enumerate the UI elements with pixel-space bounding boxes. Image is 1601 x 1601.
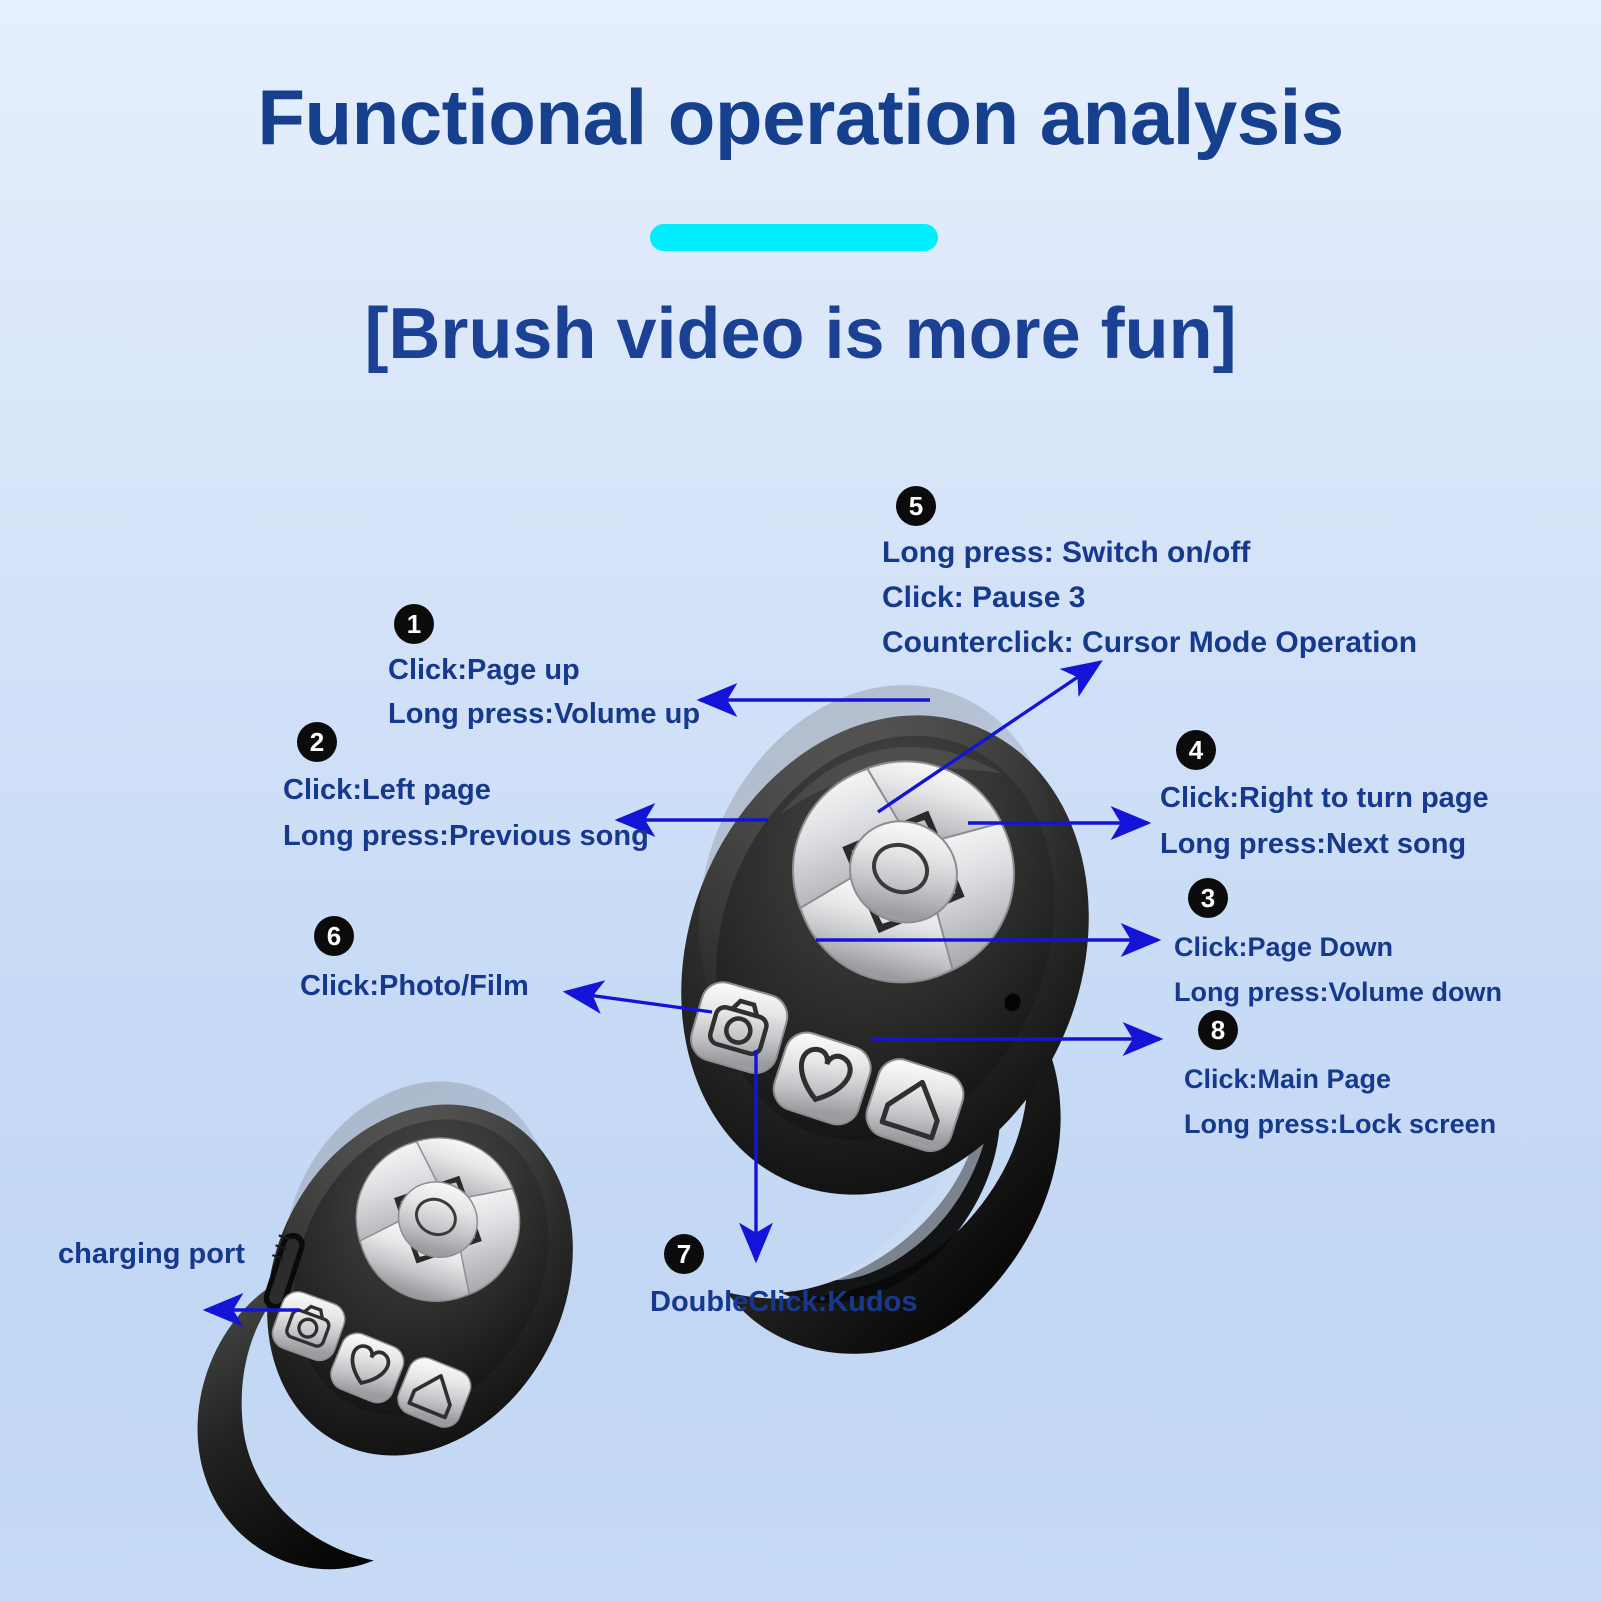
- callout-badge-3: 3: [1188, 878, 1228, 918]
- callout-2-line-2: Long press:Previous song: [283, 820, 649, 854]
- callout-2-line-1: Click:Left page: [283, 774, 649, 808]
- callout-5-line-2: Click: Pause 3: [882, 581, 1417, 616]
- callout-5-line-1: Long press: Switch on/off: [882, 536, 1417, 571]
- infographic-canvas: Functional operation analysis [Brush vid…: [0, 0, 1601, 1601]
- callout-badge-7: 7: [664, 1234, 704, 1274]
- callout-badge-4: 4: [1176, 730, 1216, 770]
- callout-badge-8: 8: [1198, 1010, 1238, 1050]
- callout-4: 4 Click:Right to turn page Long press:Ne…: [1160, 730, 1489, 861]
- arrow-callout-6: [566, 992, 712, 1012]
- callout-1: 1 Click:Page up Long press:Volume up: [388, 604, 700, 731]
- callout-7: 7 DoubleClick:Kudos: [650, 1234, 917, 1320]
- callout-4-line-1: Click:Right to turn page: [1160, 782, 1489, 816]
- callout-2: 2 Click:Left page Long press:Previous so…: [283, 722, 649, 853]
- callout-5-line-3: Counterclick: Cursor Mode Operation: [882, 626, 1417, 661]
- callout-8-line-2: Long press:Lock screen: [1184, 1109, 1496, 1140]
- callout-badge-1: 1: [394, 604, 434, 644]
- charging-port-label: charging port: [58, 1238, 245, 1271]
- callout-3-line-2: Long press:Volume down: [1174, 977, 1502, 1008]
- callout-7-line-1: DoubleClick:Kudos: [650, 1286, 917, 1320]
- callout-badge-5: 5: [896, 486, 936, 526]
- callout-badge-2: 2: [297, 722, 337, 762]
- callout-6-line-1: Click:Photo/Film: [300, 970, 529, 1004]
- arrow-callout-5: [878, 662, 1100, 812]
- callout-8: 8 Click:Main Page Long press:Lock screen: [1184, 1010, 1496, 1141]
- callout-8-line-1: Click:Main Page: [1184, 1064, 1496, 1095]
- callout-6: 6 Click:Photo/Film: [300, 916, 529, 1004]
- callout-1-line-1: Click:Page up: [388, 654, 700, 688]
- callout-3: 3 Click:Page Down Long press:Volume down: [1174, 878, 1502, 1009]
- callout-badge-6: 6: [314, 916, 354, 956]
- callout-5: 5 Long press: Switch on/off Click: Pause…: [882, 486, 1417, 660]
- callout-3-line-1: Click:Page Down: [1174, 932, 1502, 963]
- callout-4-line-2: Long press:Next song: [1160, 828, 1489, 862]
